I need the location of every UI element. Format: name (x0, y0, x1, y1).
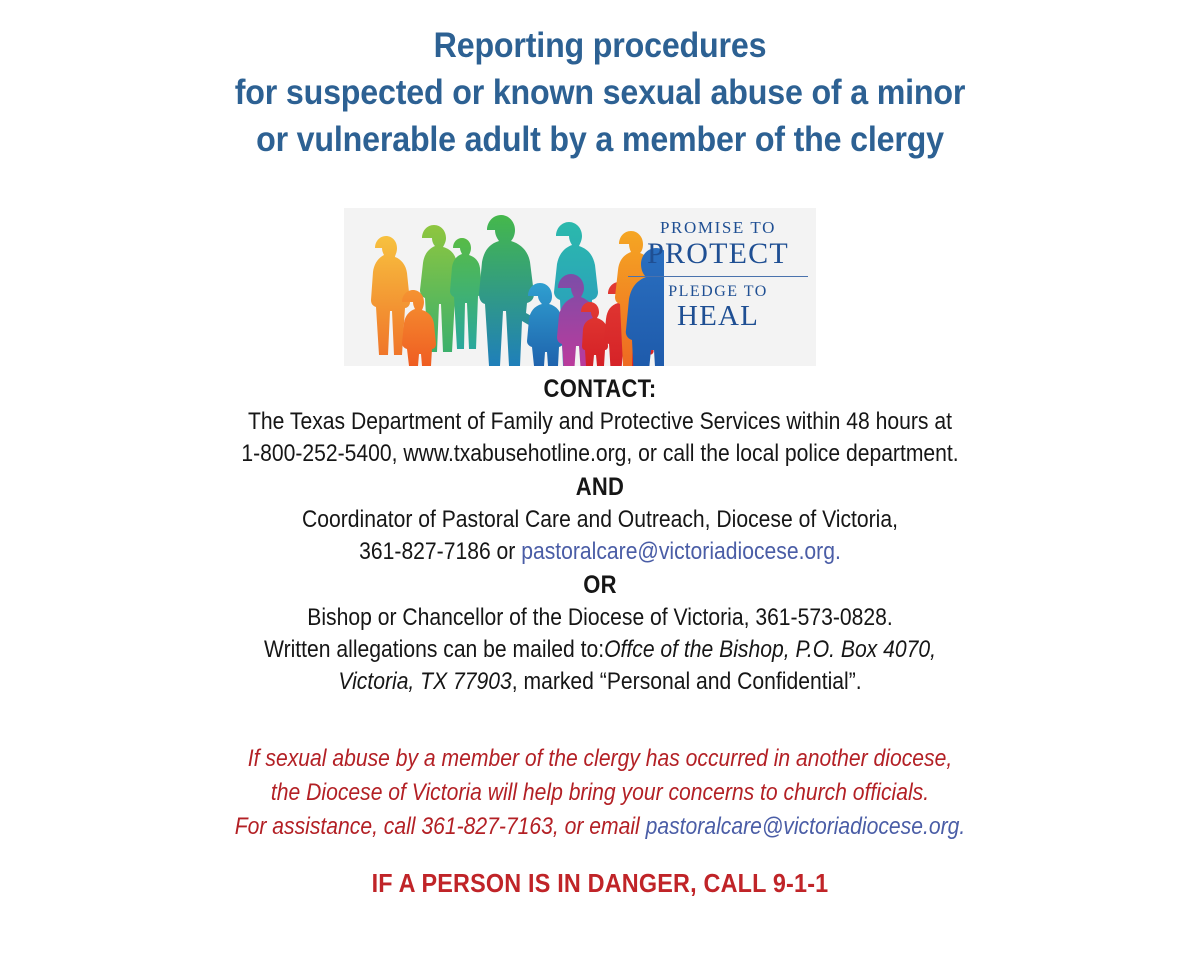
coordinator-email-link[interactable]: pastoralcare@victoriadiocese.org (521, 538, 835, 565)
title-line-3: or vulnerable adult by a member of the c… (48, 116, 1152, 163)
mailing-address-line-2: Victoria, TX 77903, marked “Personal and… (72, 666, 1128, 698)
conjunction-or: OR (72, 568, 1128, 602)
coordinator-phone-text: 361-827-7186 or (359, 538, 521, 565)
mailing-address-italic-1: Offce of the Bishop, P.O. Box 4070, (604, 636, 936, 663)
logo-line-pledge-to: PLEDGE TO (626, 282, 810, 301)
promise-to-protect-logo: PROMISE TO PROTECT PLEDGE TO HEAL (344, 208, 816, 366)
notice-line-1: If sexual abuse by a member of the clerg… (72, 742, 1128, 776)
page-title: Reporting procedures for suspected or kn… (48, 22, 1152, 163)
family-silhouettes-illustration (344, 208, 664, 366)
mailing-address-line-1: Written allegations can be mailed to:Off… (72, 634, 1128, 666)
mailing-prefix-text: Written allegations can be mailed to: (264, 636, 604, 663)
contact-coordinator-line: Coordinator of Pastoral Care and Outreac… (72, 504, 1128, 536)
contact-section: CONTACT: The Texas Department of Family … (0, 372, 1200, 698)
notice-page: Reporting procedures for suspected or kn… (0, 0, 1200, 960)
contact-heading: CONTACT: (72, 372, 1128, 406)
contact-agency-line-1: The Texas Department of Family and Prote… (72, 406, 1128, 438)
logo-line-promise-to: PROMISE TO (626, 218, 810, 238)
other-diocese-notice: If sexual abuse by a member of the clerg… (0, 742, 1200, 844)
contact-coordinator-phone-email-line: 361-827-7186 or pastoralcare@victoriadio… (72, 536, 1128, 568)
notice-line-2: the Diocese of Victoria will help bring … (72, 776, 1128, 810)
notice-line-3: For assistance, call 361-827-7163, or em… (72, 810, 1128, 844)
logo-line-protect: PROTECT (626, 238, 810, 270)
mailing-address-italic-2: Victoria, TX 77903 (338, 668, 511, 695)
contact-bishop-line: Bishop or Chancellor of the Diocese of V… (72, 602, 1128, 634)
logo-line-heal: HEAL (626, 301, 810, 332)
title-line-2: for suspected or known sexual abuse of a… (48, 69, 1152, 116)
notice-email-link[interactable]: pastoralcare@victoriadiocese.org (646, 813, 960, 840)
notice-assistance-text: For assistance, call 361-827-7163, or em… (235, 813, 646, 840)
coordinator-email-period: . (835, 538, 841, 565)
title-line-1: Reporting procedures (48, 22, 1152, 69)
contact-agency-line-2: 1-800-252-5400, www.txabusehotline.org, … (72, 438, 1128, 470)
notice-email-period: . (959, 813, 965, 840)
conjunction-and: AND (72, 470, 1128, 504)
logo-divider-rule (628, 276, 808, 277)
logo-tagline: PROMISE TO PROTECT PLEDGE TO HEAL (626, 218, 810, 332)
emergency-call-911-banner: IF A PERSON IS IN DANGER, CALL 9-1-1 (60, 867, 1140, 899)
mailing-marked-text: , marked “Personal and Confidential”. (512, 668, 862, 695)
